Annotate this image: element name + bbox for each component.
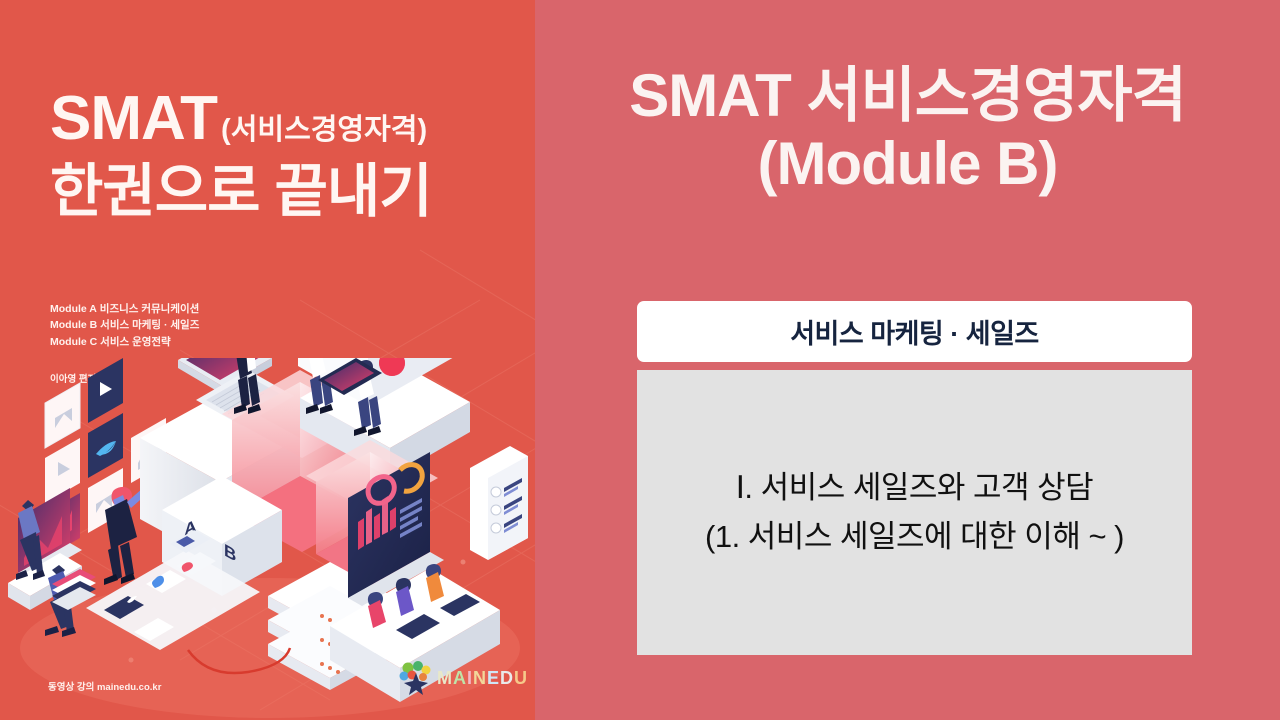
module-name: 서비스 운영전략 <box>100 336 171 348</box>
slide-root: SMAT (서비스경영자격) 한권으로 끝내기 Module A 비즈니스 커뮤… <box>0 0 1280 720</box>
subject-banner: 서비스 마케팅 · 세일즈 <box>637 301 1192 362</box>
module-code: Module B <box>50 319 97 331</box>
module-code: Module A <box>50 303 97 315</box>
cover-title-paren: (서비스경영자격) <box>221 116 427 145</box>
book-cover-image: SMAT (서비스경영자격) 한권으로 끝내기 Module A 비즈니스 커뮤… <box>0 0 535 720</box>
cover-footer-address: mainedu.co.kr <box>97 682 161 693</box>
cover-title-block: SMAT (서비스경영자격) 한권으로 끝내기 <box>50 88 520 224</box>
cover-module-list: Module A 비즈니스 커뮤니케이션 Module B 서비스 마케팅 · … <box>50 301 199 350</box>
cover-module-row: Module A 비즈니스 커뮤니케이션 <box>50 301 199 317</box>
content-line-2: (1. 서비스 세일즈에 대한 이해 ~ ) <box>705 513 1124 561</box>
mainedu-logo-icon <box>398 661 434 695</box>
content-panel: Ⅰ. 서비스 세일즈와 고객 상담 (1. 서비스 세일즈에 대한 이해 ~ ) <box>637 370 1192 655</box>
module-name: 서비스 마케팅 · 세일즈 <box>100 319 199 331</box>
cover-title-sub: 한권으로 끝내기 <box>50 160 520 224</box>
content-line-1: Ⅰ. 서비스 세일즈와 고객 상담 <box>736 464 1093 512</box>
illustration-tablet-checklist <box>470 446 528 560</box>
module-name: 비즈니스 커뮤니케이션 <box>100 303 200 315</box>
cover-module-row: Module B 서비스 마케팅 · 세일즈 <box>50 317 199 333</box>
slide-content-panel: SMAT 서비스경영자격 (Module B) 서비스 마케팅 · 세일즈 Ⅰ.… <box>535 0 1280 720</box>
cover-module-row: Module C 서비스 운영전략 <box>50 334 199 350</box>
page-title: SMAT 서비스경영자격 (Module B) <box>555 62 1260 198</box>
module-code: Module C <box>50 336 97 348</box>
subject-banner-label: 서비스 마케팅 · 세일즈 <box>790 312 1039 351</box>
mainedu-logo: MAINEDU <box>398 661 528 695</box>
cover-title-smat: SMAT <box>50 88 217 150</box>
cover-footer-label: 동영상 강의 <box>48 682 94 693</box>
mainedu-logo-text: MAINEDU <box>437 668 528 689</box>
cover-footer-url: 동영상 강의 mainedu.co.kr <box>48 679 161 693</box>
